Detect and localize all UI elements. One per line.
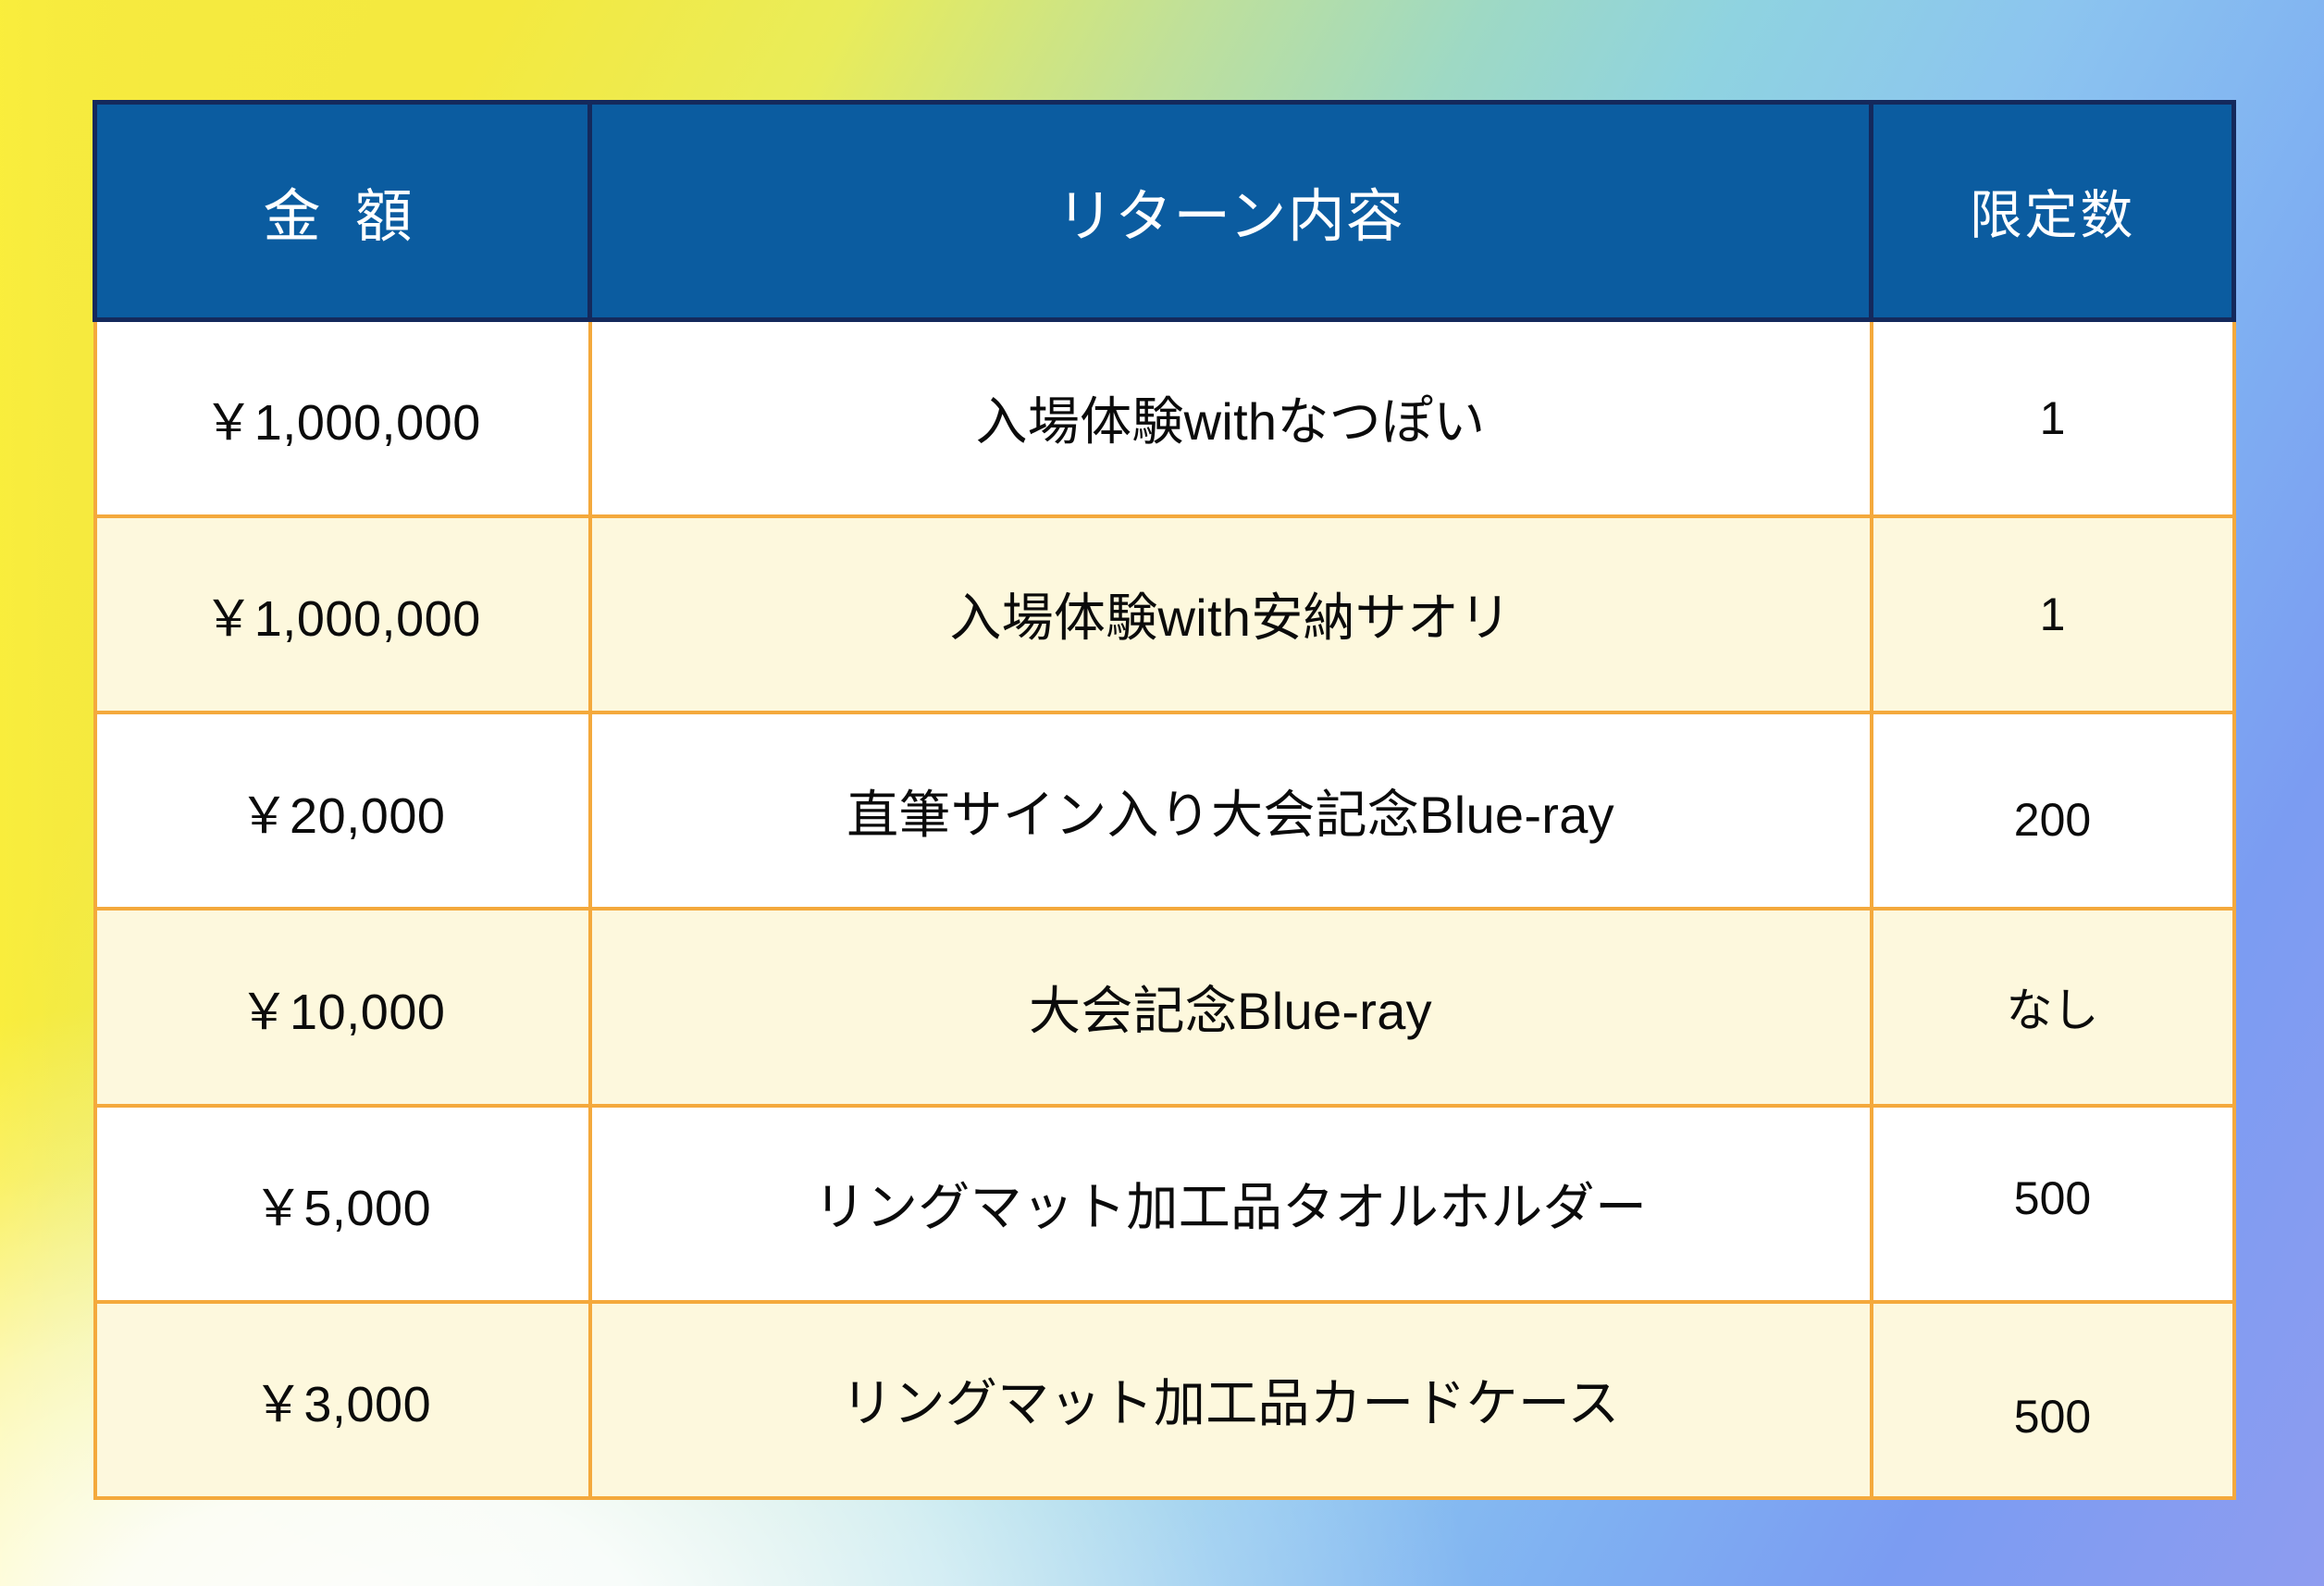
table-row: ￥10,000 大会記念Blue-ray なし [95, 909, 2234, 1105]
cell-amount: ￥20,000 [95, 712, 590, 909]
table-body: ￥1,000,000 入場体験withなつぽい 1 ￥1,000,000 入場体… [95, 320, 2234, 1499]
cell-limit: なし [1872, 909, 2234, 1105]
table-row: ￥3,000 リングマット加工品カードケース 500 [95, 1302, 2234, 1498]
column-header-limit: 限定数 [1872, 103, 2234, 320]
return-table: 金 額 リターン内容 限定数 ￥1,000,000 入場体験withなつぽい 1… [93, 100, 2236, 1500]
table-row: ￥20,000 直筆サイン入り大会記念Blue-ray 200 [95, 712, 2234, 909]
table-row: ￥5,000 リングマット加工品タオルホルダー 500 [95, 1106, 2234, 1302]
cell-limit-value: 500 [2014, 1171, 2091, 1225]
cell-amount: ￥1,000,000 [95, 516, 590, 712]
cell-limit: 500 [1872, 1106, 2234, 1302]
column-header-detail: リターン内容 [590, 103, 1872, 320]
cell-limit: 1 [1872, 516, 2234, 712]
cell-limit: 1 [1872, 320, 2234, 516]
cell-amount: ￥5,000 [95, 1106, 590, 1302]
return-table-container: 金 額 リターン内容 限定数 ￥1,000,000 入場体験withなつぽい 1… [93, 100, 2231, 1500]
table-header: 金 額 リターン内容 限定数 [95, 103, 2234, 320]
cell-detail: 直筆サイン入り大会記念Blue-ray [590, 712, 1872, 909]
cell-limit: 500 [1872, 1302, 2234, 1498]
column-header-amount: 金 額 [95, 103, 590, 320]
cell-amount: ￥1,000,000 [95, 320, 590, 516]
cell-amount: ￥10,000 [95, 909, 590, 1105]
table-row: ￥1,000,000 入場体験with安納サオリ 1 [95, 516, 2234, 712]
table-row: ￥1,000,000 入場体験withなつぽい 1 [95, 320, 2234, 516]
cell-detail: リングマット加工品カードケース [590, 1302, 1872, 1498]
cell-limit: 200 [1872, 712, 2234, 909]
cell-limit-value: 200 [2014, 793, 2091, 847]
cell-detail: リングマット加工品タオルホルダー [590, 1106, 1872, 1302]
table-header-row: 金 額 リターン内容 限定数 [95, 103, 2234, 320]
cell-detail: 大会記念Blue-ray [590, 909, 1872, 1105]
cell-detail: 入場体験with安納サオリ [590, 516, 1872, 712]
cell-limit-value: 500 [2014, 1390, 2091, 1444]
cell-detail: 入場体験withなつぽい [590, 320, 1872, 516]
cell-amount: ￥3,000 [95, 1302, 590, 1498]
